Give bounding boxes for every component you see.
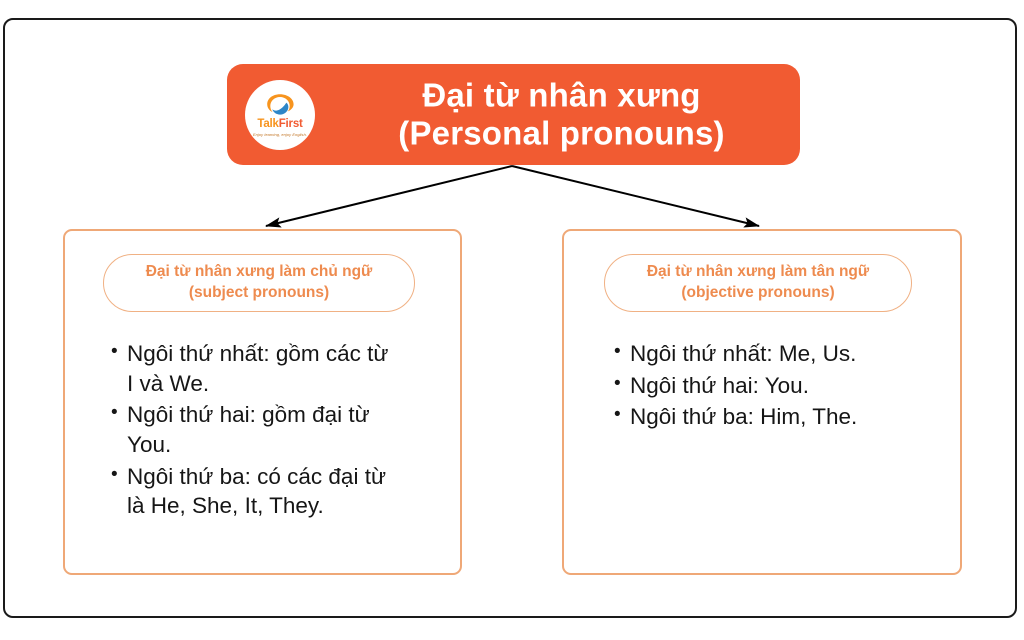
diagram-canvas: TalkFirst Enjoy learning, enjoy English.… bbox=[0, 0, 1024, 640]
list-item: Ngôi thứ nhất: Me, Us. bbox=[614, 339, 930, 369]
panel-heading-objective-line2: (objective pronouns) bbox=[611, 283, 905, 304]
page-title-line2: (Personal pronouns) bbox=[331, 115, 792, 153]
bullet-list-subject: Ngôi thứ nhất: gồm các từ I và We. Ngôi … bbox=[65, 339, 460, 523]
list-item: Ngôi thứ hai: You. bbox=[614, 371, 930, 401]
bullet-list-objective: Ngôi thứ nhất: Me, Us. Ngôi thứ hai: You… bbox=[564, 339, 960, 434]
panel-subject-pronouns: Đại từ nhân xưng làm chủ ngữ (subject pr… bbox=[63, 229, 462, 575]
logo-word-first: First bbox=[279, 118, 303, 130]
panel-heading-objective: Đại từ nhân xưng làm tân ngữ (objective … bbox=[604, 254, 912, 312]
panel-heading-subject-line2: (subject pronouns) bbox=[110, 283, 408, 304]
logo-wordmark: TalkFirst bbox=[257, 119, 302, 131]
logo-tagline: Enjoy learning, enjoy English. bbox=[253, 132, 307, 137]
panel-heading-subject: Đại từ nhân xưng làm chủ ngữ (subject pr… bbox=[103, 254, 415, 312]
page-title: Đại từ nhân xưng (Personal pronouns) bbox=[331, 76, 792, 153]
panel-heading-objective-line1: Đại từ nhân xưng làm tân ngữ bbox=[647, 263, 869, 280]
header-card: TalkFirst Enjoy learning, enjoy English.… bbox=[227, 64, 800, 165]
talkfirst-logo: TalkFirst Enjoy learning, enjoy English. bbox=[245, 80, 315, 150]
panel-objective-pronouns: Đại từ nhân xưng làm tân ngữ (objective … bbox=[562, 229, 962, 575]
panel-heading-subject-line1: Đại từ nhân xưng làm chủ ngữ bbox=[146, 263, 373, 280]
logo-word-talk: Talk bbox=[257, 118, 278, 130]
list-item: Ngôi thứ ba: có các đại từ là He, She, I… bbox=[111, 462, 399, 521]
list-item: Ngôi thứ ba: Him, The. bbox=[614, 402, 930, 432]
page-title-line1: Đại từ nhân xưng bbox=[422, 76, 700, 113]
list-item: Ngôi thứ nhất: gồm các từ I và We. bbox=[111, 339, 399, 398]
list-item: Ngôi thứ hai: gồm đại từ You. bbox=[111, 400, 399, 459]
logo-swoosh-icon bbox=[263, 92, 297, 118]
